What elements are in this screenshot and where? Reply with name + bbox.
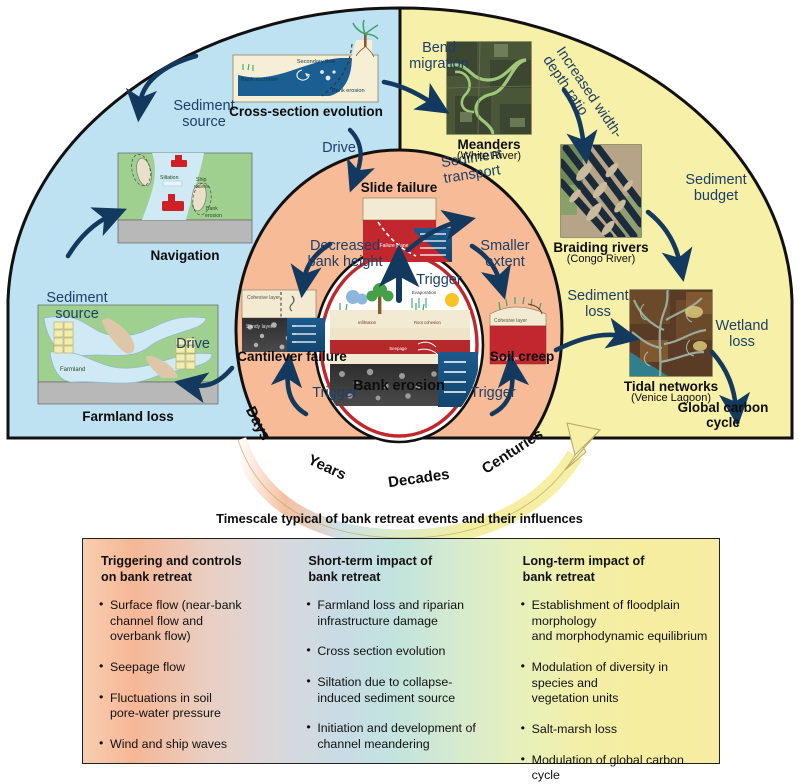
arrow-label-sediment-loss: Sediment loss xyxy=(556,288,640,320)
table-column-list: Establishment of floodplain morphology a… xyxy=(521,598,709,784)
svg-text:Bank erosion: Bank erosion xyxy=(332,88,365,94)
svg-text:waves: waves xyxy=(194,184,209,190)
table-column-header: Triggering and controls on bank retreat xyxy=(101,553,280,585)
list-item: Fluctuations in soil pore-water pressure xyxy=(99,691,280,722)
subcaption-meanders: (White River) xyxy=(429,150,549,162)
svg-text:Cohesive layer: Cohesive layer xyxy=(494,318,527,324)
svg-text:Ship: Ship xyxy=(196,177,206,183)
svg-text:Infiltration: Infiltration xyxy=(358,320,377,325)
arrow-label-drive-cross-section: Drive xyxy=(308,140,370,156)
table-column-short-term: Short-term impact of bank retreat Farmla… xyxy=(290,539,504,763)
arrow-label-trigger-soil-creep: Trigger xyxy=(459,385,527,401)
summary-table: Triggering and controls on bank retreat … xyxy=(82,538,720,764)
caption-soil-creep: Soil creep xyxy=(474,349,570,364)
subcaption-braiding-rivers: (Congo River) xyxy=(541,253,661,265)
arrow-label-drive-farmland: Drive xyxy=(162,336,224,352)
table-column-list: Farmland loss and riparian infrastructur… xyxy=(306,598,494,752)
caption-cantilever-failure: Cantilever failure xyxy=(224,349,360,364)
arrow-label-bend-migration: Bend migration xyxy=(398,40,480,72)
svg-text:erosion: erosion xyxy=(205,213,222,219)
table-column-long-term: Long-term impact of bank retreat Establi… xyxy=(505,539,719,763)
list-item: Seepage flow xyxy=(99,660,280,676)
list-item: Wind and ship waves xyxy=(99,737,280,753)
list-item: Cross section evolution xyxy=(306,644,494,660)
svg-text:Bank: Bank xyxy=(206,206,218,212)
caption-farmland-loss: Farmland loss xyxy=(58,409,198,424)
caption-cross-section-evolution: Cross-section evolution xyxy=(222,104,390,119)
figure-caption: Timescale typical of bank retreat events… xyxy=(0,511,799,526)
list-item: Surface flow (near-bank channel flow and… xyxy=(99,598,280,645)
list-item: Salt-marsh loss xyxy=(521,722,709,738)
arrow-label-trigger-cantilever: Trigger xyxy=(301,385,369,401)
svg-text:Evaporation: Evaporation xyxy=(412,290,437,295)
list-item: Establishment of floodplain morphology a… xyxy=(521,598,709,645)
arrow-label-wetland-loss: Wetland loss xyxy=(700,318,784,350)
table-column-list: Surface flow (near-bank channel flow and… xyxy=(99,598,280,752)
arrow-label-sediment-budget: Sediment budget xyxy=(670,172,762,204)
list-item: Modulation of global carbon cycle xyxy=(521,753,709,784)
svg-text:Seepage: Seepage xyxy=(389,346,407,351)
svg-text:Secondary flow: Secondary flow xyxy=(297,59,336,65)
braiding-rivers-image xyxy=(561,145,641,237)
svg-text:Sandy layer: Sandy layer xyxy=(246,324,273,330)
svg-text:Bank accretion: Bank accretion xyxy=(241,77,278,83)
list-item: Modulation of diversity in species and v… xyxy=(521,660,709,707)
cantilever-failure-image: Cohesive layer Sandy layer xyxy=(242,290,325,352)
caption-navigation: Navigation xyxy=(125,248,245,263)
svg-text:Farmland: Farmland xyxy=(60,367,85,373)
list-item: Siltation due to collapse- induced sedim… xyxy=(306,675,494,706)
svg-text:Cohesive layer: Cohesive layer xyxy=(247,295,280,301)
table-column-triggering: Triggering and controls on bank retreat … xyxy=(83,539,290,763)
arrow-label-decreased-bank-height: Decreased bank height xyxy=(289,238,401,270)
arrow-label-smaller-extent: Smaller extent xyxy=(462,238,548,270)
arrow-label-trigger-slide: Trigger xyxy=(405,272,473,288)
caption-slide-failure: Slide failure xyxy=(349,180,449,195)
table-column-header: Long-term impact of bank retreat xyxy=(523,553,709,585)
list-item: Farmland loss and riparian infrastructur… xyxy=(306,598,494,629)
table-column-header: Short-term impact of bank retreat xyxy=(308,553,494,585)
svg-text:Siltation: Siltation xyxy=(160,175,179,181)
svg-text:Root cohesion: Root cohesion xyxy=(414,320,441,325)
arrow-label-sediment-source-lower: Sediment source xyxy=(22,290,132,322)
navigation-image: Siltation Ship waves Bank erosion xyxy=(118,152,252,243)
list-item: Initiation and development of channel me… xyxy=(306,721,494,752)
caption-global-carbon-cycle: Global carbon cycle xyxy=(668,400,778,430)
